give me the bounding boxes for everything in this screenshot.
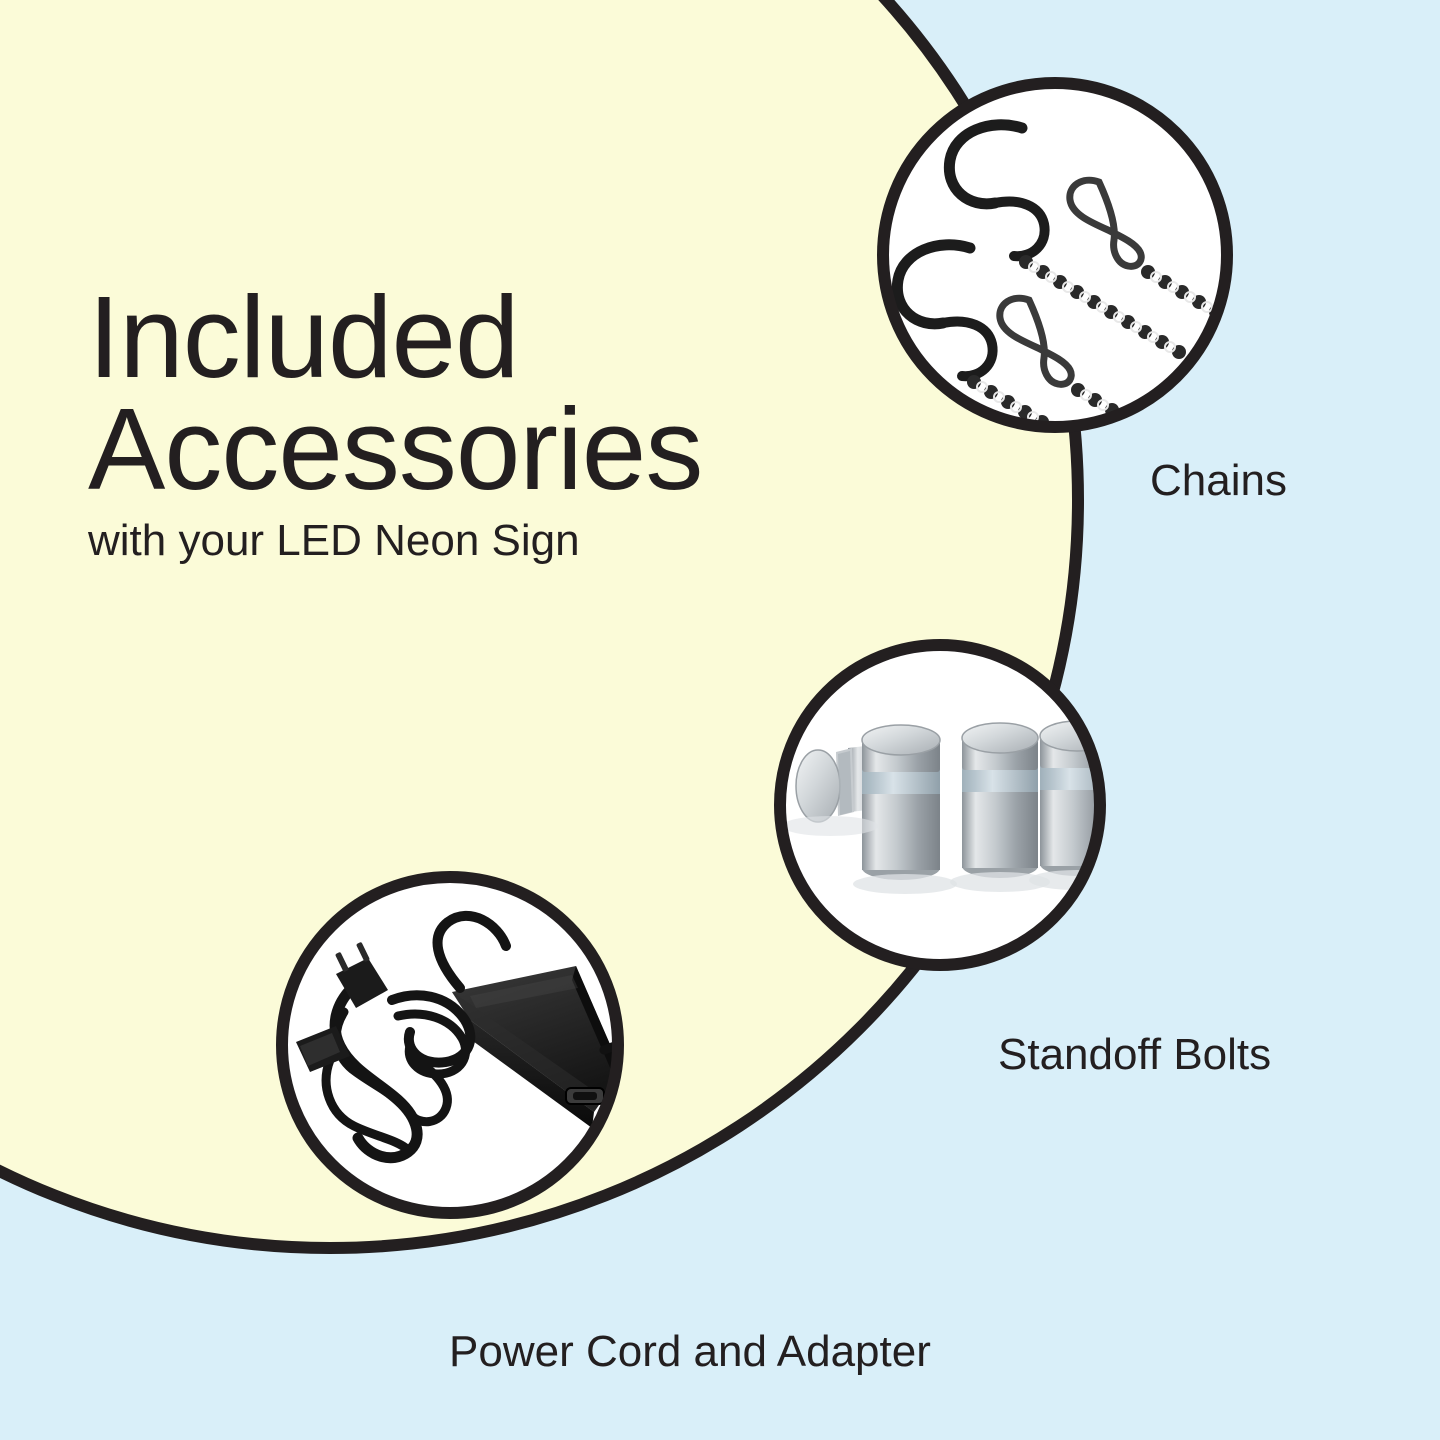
caption-standoff-bolts: Standoff Bolts (998, 1030, 1271, 1080)
caption-power-cord: Power Cord and Adapter (449, 1327, 931, 1377)
caption-chains: Chains (1150, 456, 1287, 506)
infographic-canvas: Included Accessories with your LED Neon … (0, 0, 1440, 1440)
bolt-1 (862, 725, 940, 880)
subheadline: with your LED Neon Sign (88, 517, 888, 565)
headline-group: Included Accessories with your LED Neon … (88, 278, 888, 565)
headline-line-1: Included (88, 278, 888, 396)
bolt-2 (962, 723, 1038, 878)
illustration-layer (0, 0, 1440, 1440)
callout-circle-standoff-bolts (780, 645, 1125, 975)
headline-line-2: Accessories (88, 390, 888, 508)
